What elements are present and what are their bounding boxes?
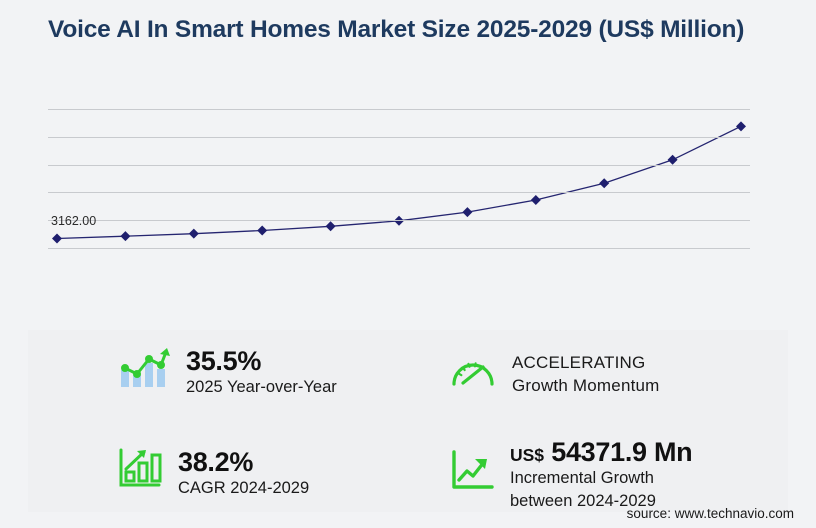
- infographic-root: Voice AI In Smart Homes Market Size 2025…: [0, 0, 816, 528]
- chart-data-point[interactable]: [257, 225, 267, 235]
- metric-value: US$ 54371.9 Mn: [510, 437, 692, 467]
- chart-data-point[interactable]: [52, 233, 62, 243]
- chart-gridline: [48, 109, 750, 110]
- chart-data-point[interactable]: [668, 155, 678, 165]
- chart-data-point[interactable]: [462, 207, 472, 217]
- chart-data-point[interactable]: [531, 195, 541, 205]
- bar-chart-arrow-icon: [118, 447, 162, 494]
- bar-chart-trend-icon: [118, 346, 170, 395]
- metric-value: 35.5%: [186, 346, 337, 376]
- momentum-line-1: ACCELERATING: [512, 352, 660, 375]
- metric-amount: 54371.9 Mn: [551, 437, 692, 467]
- metric-caption-line-1: Incremental Growth: [510, 468, 692, 489]
- metric-growth-momentum: ACCELERATING Growth Momentum: [450, 352, 660, 398]
- metric-incremental-growth: US$ 54371.9 Mn Incremental Growth betwee…: [450, 437, 692, 512]
- chart-gridline: [48, 165, 750, 166]
- chart-data-point[interactable]: [326, 221, 336, 231]
- metric-unit: US$: [510, 445, 544, 465]
- line-chart-arrow-icon: [450, 437, 494, 498]
- metric-caption: CAGR 2024-2029: [178, 478, 309, 499]
- chart-gridline: [48, 248, 750, 249]
- chart-data-point[interactable]: [189, 229, 199, 239]
- chart-data-point[interactable]: [120, 231, 130, 241]
- chart-gridline: [48, 220, 750, 221]
- momentum-line-2: Growth Momentum: [512, 375, 660, 398]
- metric-year-over-year: 35.5% 2025 Year-over-Year: [118, 346, 337, 399]
- chart-data-point[interactable]: [599, 178, 609, 188]
- chart-plot-area: 3162.00: [48, 109, 750, 249]
- line-chart: 3162.00 20192020202120222023202420252026…: [0, 95, 816, 280]
- speedometer-icon: [450, 352, 496, 393]
- chart-data-point[interactable]: [736, 121, 746, 131]
- metric-cagr: 38.2% CAGR 2024-2029: [118, 447, 309, 500]
- chart-gridline: [48, 137, 750, 138]
- metric-value: 38.2%: [178, 447, 309, 477]
- chart-series-line: [48, 109, 750, 249]
- page-title: Voice AI In Smart Homes Market Size 2025…: [48, 14, 748, 47]
- chart-gridline: [48, 192, 750, 193]
- metric-caption: 2025 Year-over-Year: [186, 377, 337, 398]
- chart-point-label: 3162.00: [51, 214, 96, 228]
- source-note: source: www.technavio.com: [627, 506, 794, 521]
